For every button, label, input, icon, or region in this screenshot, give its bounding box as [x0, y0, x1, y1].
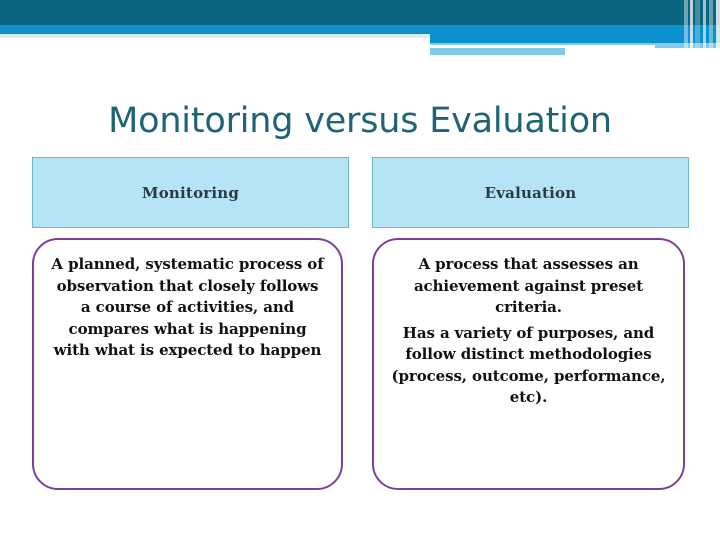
slide-canvas: Monitoring versus Evaluation Monitoring …	[0, 0, 720, 540]
banner-band-mid-right	[430, 25, 720, 43]
banner-vertical-stripe-6	[716, 0, 720, 56]
comparison-column-monitoring: Monitoring A planned, systematic process…	[32, 157, 349, 490]
banner-vertical-stripe-1	[684, 0, 688, 56]
banner-band-mid-left	[0, 25, 430, 34]
banner-vertical-stripe-4	[703, 0, 706, 56]
column-body-monitoring: A planned, systematic process of observa…	[32, 238, 343, 490]
banner-band-dark-teal	[0, 0, 720, 25]
column-body-evaluation: A process that assesses an achievement a…	[372, 238, 685, 490]
column-header-evaluation: Evaluation	[372, 157, 689, 228]
banner-band-pale-left	[0, 34, 430, 38]
banner-vertical-stripe-3	[695, 0, 700, 56]
column-body-paragraph: A planned, systematic process of observa…	[50, 254, 325, 362]
column-body-paragraph: Has a variety of purposes, and follow di…	[390, 323, 667, 409]
banner-band-pale-step	[430, 48, 565, 55]
column-header-label-monitoring: Monitoring	[142, 184, 239, 202]
comparison-column-evaluation: Evaluation A process that assesses an ac…	[372, 157, 689, 490]
slide-title: Monitoring versus Evaluation	[40, 100, 680, 142]
banner-vertical-stripe-2	[690, 0, 693, 56]
banner-vertical-stripe-5	[709, 0, 713, 56]
column-header-monitoring: Monitoring	[32, 157, 349, 228]
column-header-label-evaluation: Evaluation	[485, 184, 577, 202]
column-body-paragraph: A process that assesses an achievement a…	[390, 254, 667, 319]
decorative-header-banner	[0, 0, 720, 56]
